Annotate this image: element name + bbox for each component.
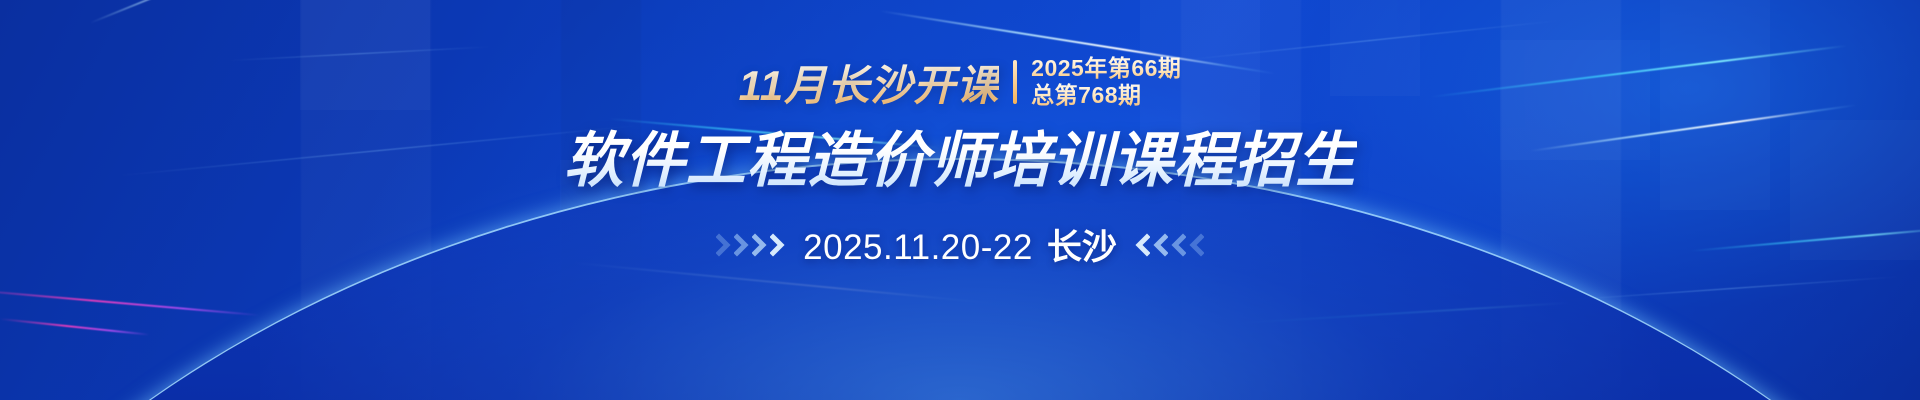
chevron-left-icon <box>1171 233 1186 257</box>
date-city-text: 2025.11.20-22 长沙 <box>803 219 1117 270</box>
chevron-left-group-icon <box>1135 233 1204 257</box>
chevron-left-icon <box>1189 233 1204 257</box>
kicker-divider-icon <box>1013 60 1017 104</box>
chevron-right-icon <box>734 233 749 257</box>
chevron-left-icon <box>1135 233 1150 257</box>
page-title: 软件工程造价师培训课程招生 <box>564 112 1357 199</box>
issue-line-current: 2025年第66期 <box>1031 56 1181 82</box>
chevron-right-icon <box>716 233 731 257</box>
chevron-left-icon <box>1153 233 1168 257</box>
event-promo-banner: 11月长沙开课 2025年第66期 总第768期 软件工程造价师培训课程招生 2… <box>0 0 1920 400</box>
chevron-right-icon <box>770 233 785 257</box>
kicker-row: 11月长沙开课 2025年第66期 总第768期 <box>739 56 1182 108</box>
event-city: 长沙 <box>1047 219 1117 270</box>
date-location-row: 2025.11.20-22 长沙 <box>716 219 1204 270</box>
kicker-title: 11月长沙开课 <box>739 52 1000 113</box>
event-date: 2025.11.20-22 <box>803 228 1033 268</box>
issue-line-total: 总第768期 <box>1031 83 1181 109</box>
banner-content: 11月长沙开课 2025年第66期 总第768期 软件工程造价师培训课程招生 2… <box>0 0 1920 400</box>
chevron-right-group-icon <box>716 233 785 257</box>
chevron-right-icon <box>752 233 767 257</box>
issue-number-block: 2025年第66期 总第768期 <box>1031 56 1181 109</box>
